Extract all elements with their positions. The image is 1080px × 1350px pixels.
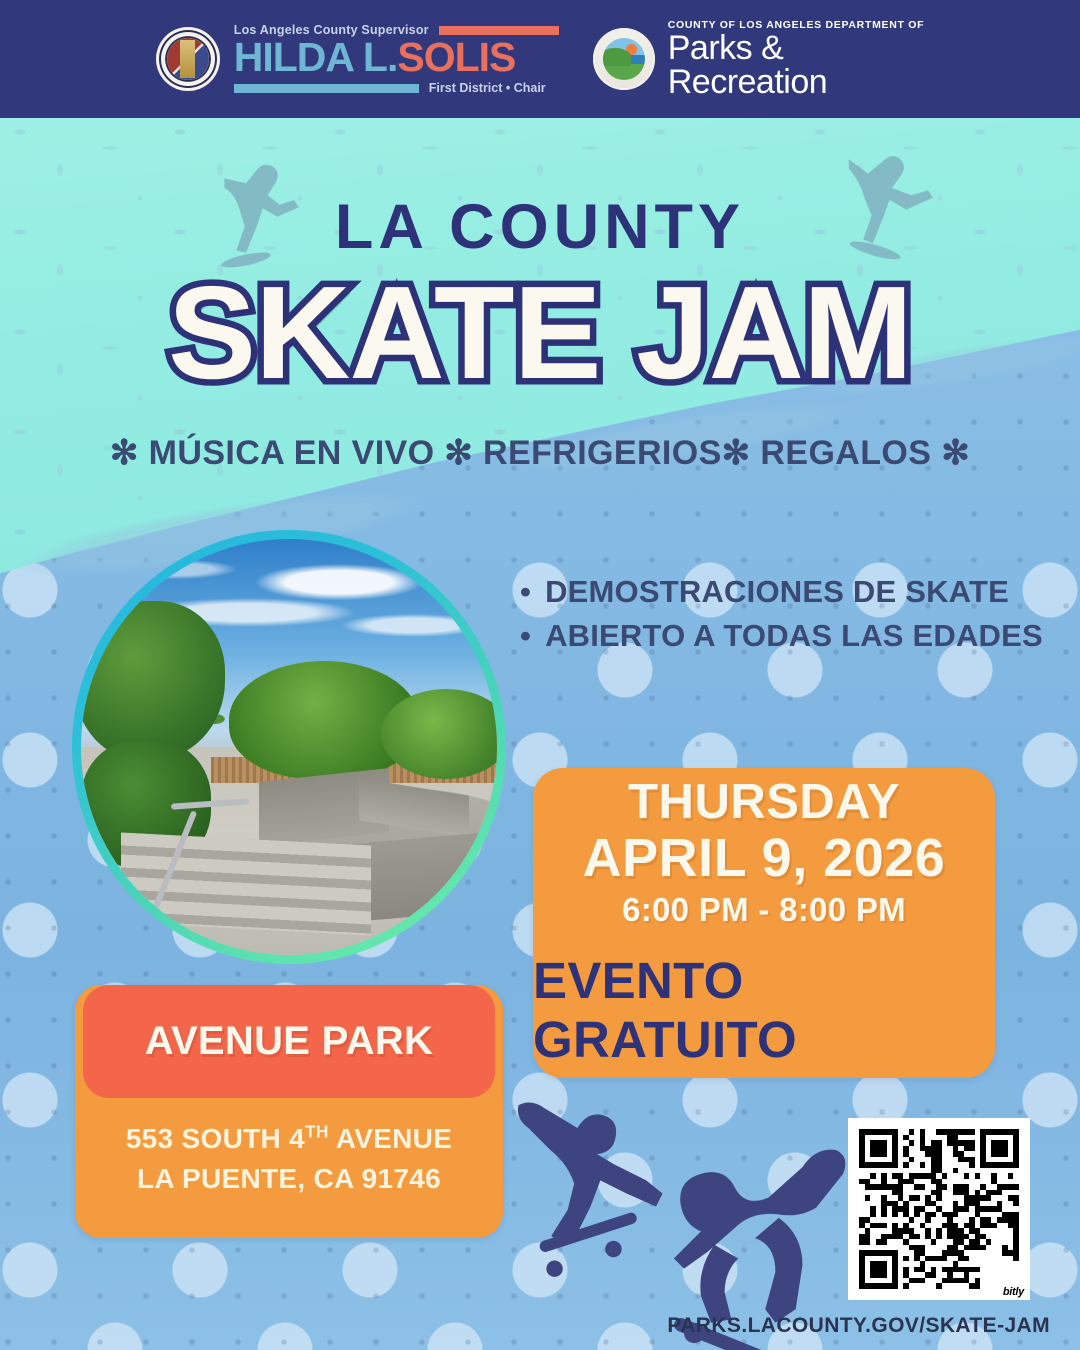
supervisor-name-first: HILDA L. xyxy=(234,34,398,80)
venue-address: 553 SOUTH 4TH AVENUE LA PUENTE, CA 91746 xyxy=(75,1119,503,1199)
free-event-badge: EVENTO GRATUITO xyxy=(533,951,995,1069)
feature-list: ✻ MÚSICA EN VIVO ✻ REFRIGERIOS✻ REGALOS … xyxy=(0,433,1080,473)
parks-logo-text: COUNTY OF LOS ANGELES DEPARTMENT OF Park… xyxy=(668,19,924,99)
venue-name: AVENUE PARK xyxy=(145,1019,434,1064)
address-ordinal-suffix: TH xyxy=(305,1122,329,1142)
supervisor-logo-text: Los Angeles County Supervisor HILDA L.SO… xyxy=(234,23,559,95)
venue-card: AVENUE PARK 553 SOUTH 4TH AVENUE LA PUEN… xyxy=(75,985,503,1238)
parks-recreation-logo: COUNTY OF LOS ANGELES DEPARTMENT OF Park… xyxy=(593,19,924,99)
skatepark-photo xyxy=(81,539,497,955)
event-day: THURSDAY xyxy=(628,777,900,828)
supervisor-blue-rule xyxy=(234,84,419,93)
page-title: SKATE JAM xyxy=(0,267,1080,399)
list-item: ABIERTO A TODAS LAS EDADES xyxy=(520,614,1043,658)
info-bullet-list: DEMOSTRACIONES DE SKATE ABIERTO A TODAS … xyxy=(520,570,1043,658)
parks-name-line1: Parks & xyxy=(668,32,924,65)
event-date: APRIL 9, 2026 xyxy=(583,828,946,888)
supervisor-name-last: SOLIS xyxy=(397,34,515,80)
supervisor-subtitle: First District • Chair xyxy=(429,81,546,95)
venue-name-banner: AVENUE PARK xyxy=(83,985,495,1098)
qr-bitly-label: bitly xyxy=(1001,1286,1026,1298)
la-county-seal-icon xyxy=(156,27,220,91)
address-street-type: AVENUE xyxy=(329,1123,452,1154)
footer-url[interactable]: PARKS.LACOUNTY.GOV/SKATE-JAM xyxy=(0,1314,1080,1338)
supervisor-logo: Los Angeles County Supervisor HILDA L.SO… xyxy=(156,23,559,95)
parks-name-line2: Recreation xyxy=(668,66,924,99)
photo-ring xyxy=(72,530,506,964)
venue-address-line2: LA PUENTE, CA 91746 xyxy=(75,1159,503,1199)
date-card: THURSDAY APRIL 9, 2026 6:00 PM - 8:00 PM… xyxy=(533,768,995,1078)
list-item: DEMOSTRACIONES DE SKATE xyxy=(520,570,1043,614)
event-time: 6:00 PM - 8:00 PM xyxy=(622,891,906,929)
parks-recreation-seal-icon xyxy=(593,28,655,90)
poster-canvas: Los Angeles County Supervisor HILDA L.SO… xyxy=(0,0,1080,1350)
supervisor-name: HILDA L.SOLIS xyxy=(234,37,559,78)
title-kicker: LA COUNTY xyxy=(0,196,1080,259)
address-street-number: 553 SOUTH 4 xyxy=(126,1123,305,1154)
header-bar: Los Angeles County Supervisor HILDA L.SO… xyxy=(0,0,1080,118)
qr-code[interactable]: bitly xyxy=(848,1118,1030,1300)
qr-code-matrix xyxy=(859,1129,1019,1289)
venue-address-line1: 553 SOUTH 4TH AVENUE xyxy=(75,1119,503,1159)
